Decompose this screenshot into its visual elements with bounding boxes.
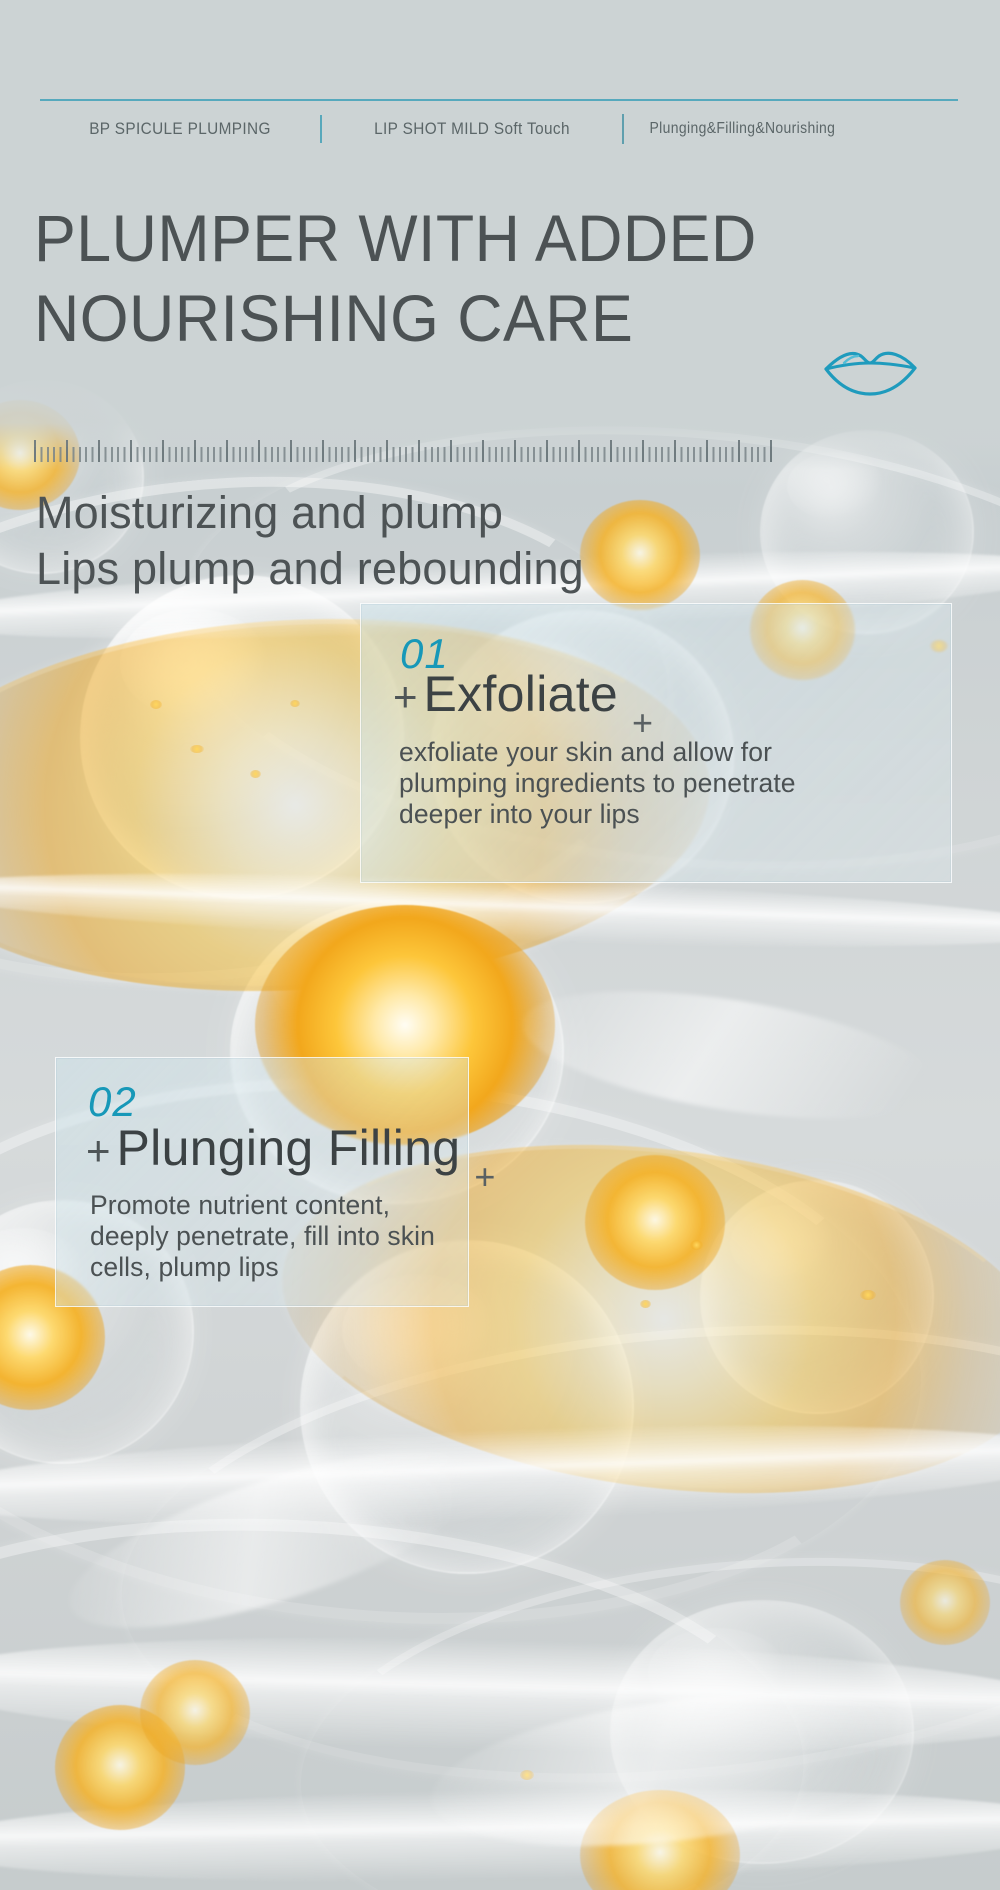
gold-glow-core [585, 1155, 725, 1290]
ruler-tick-divider [34, 440, 774, 462]
page-title: PLUMPER WITH ADDED NOURISHING CARE [34, 198, 756, 358]
gold-glow-core [140, 1660, 250, 1765]
product-detail-page: BP SPICULE PLUMPING LIP SHOT MILD Soft T… [0, 0, 1000, 1890]
lips-icon [820, 338, 920, 400]
gold-speck [290, 700, 300, 707]
page-title-line-2: NOURISHING CARE [34, 278, 756, 358]
gold-speck [250, 770, 261, 778]
hero-subtitle: Moisturizing and plump Lips plump and re… [36, 485, 776, 597]
plus-icon-lead-01: + [393, 676, 418, 718]
header-divider-1 [320, 115, 322, 143]
feature-title-01: Exfoliate [424, 668, 618, 721]
plus-icon-lead-02: + [86, 1130, 111, 1172]
plus-icon-trail-01: + [632, 705, 653, 741]
header-item-benefits[interactable]: Plunging&Filling&Nourishing [635, 120, 835, 138]
feature-body-02-line-3: cells, plump lips [90, 1252, 510, 1283]
page-title-line-1: PLUMPER WITH ADDED [34, 198, 756, 278]
feature-body-01-line-3: deeper into your lips [399, 799, 959, 830]
header-divider-2 [622, 114, 624, 144]
ruler-major-ticks [34, 440, 774, 462]
feature-body-02-line-2: deeply penetrate, fill into skin [90, 1221, 510, 1252]
header-nav: BP SPICULE PLUMPING LIP SHOT MILD Soft T… [40, 99, 958, 149]
feature-body-01-line-2: plumping ingredients to penetrate [399, 768, 959, 799]
hero-subtitle-line-2: Lips plump and rebounding [36, 541, 776, 597]
feature-heading-row-01: + Exfoliate + [393, 668, 653, 721]
header-item-brand[interactable]: BP SPICULE PLUMPING [50, 120, 310, 139]
feature-body-01: exfoliate your skin and allow for plumpi… [399, 737, 959, 830]
feature-body-02-line-1: Promote nutrient content, [90, 1190, 510, 1221]
gold-speck [690, 1240, 703, 1250]
feature-title-02: Plunging Filling [117, 1122, 461, 1175]
feature-heading-row-02: + Plunging Filling + [86, 1122, 495, 1175]
gold-speck [150, 700, 162, 709]
header-rule [40, 99, 958, 101]
gold-glow-core [900, 1560, 990, 1645]
feature-body-02: Promote nutrient content, deeply penetra… [90, 1190, 510, 1283]
hero-subtitle-line-1: Moisturizing and plump [36, 485, 776, 541]
gold-speck [860, 1290, 876, 1300]
feature-number-02: 02 [88, 1078, 137, 1126]
gold-speck [190, 745, 204, 753]
header-item-product[interactable]: LIP SHOT MILD Soft Touch [333, 120, 612, 139]
gold-speck [640, 1300, 651, 1308]
header-items-row: BP SPICULE PLUMPING LIP SHOT MILD Soft T… [40, 109, 958, 149]
feature-body-01-line-1: exfoliate your skin and allow for [399, 737, 959, 768]
